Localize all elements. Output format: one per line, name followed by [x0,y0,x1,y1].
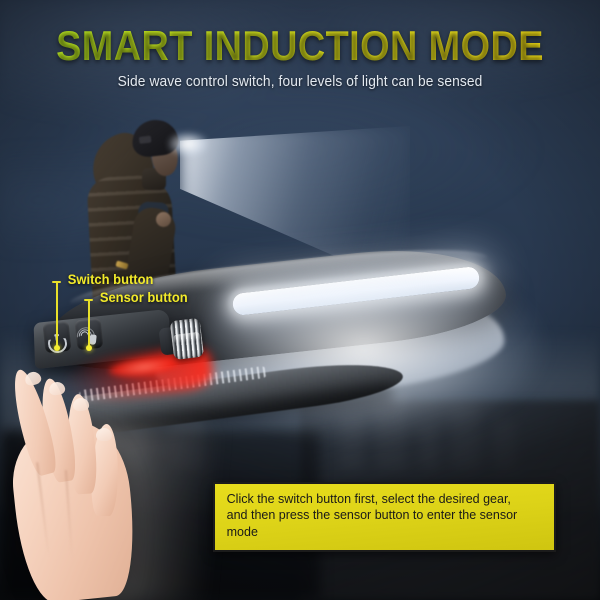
callout-label: Sensor button [100,290,188,305]
waving-hand [0,366,154,600]
instruction-caption-box: Click the switch button first, select th… [213,482,556,552]
callout-leader-line [56,283,58,347]
callout-leader-line [88,301,90,347]
page-title: SMART INDUCTION MODE [30,22,570,70]
product-marketing-image: Switch button Sensor button SMART INDUCT… [0,0,600,600]
fingernail [73,397,90,411]
fingernail [96,428,112,442]
callout-anchor-dot [86,345,92,351]
page-subtitle: Side wave control switch, four levels of… [15,74,585,90]
callout-label: Switch button [68,272,154,287]
fingernail [48,381,66,396]
callout-anchor-dot [54,345,60,351]
fingernail [24,370,43,387]
instruction-caption-text: Click the switch button first, select th… [215,484,544,540]
